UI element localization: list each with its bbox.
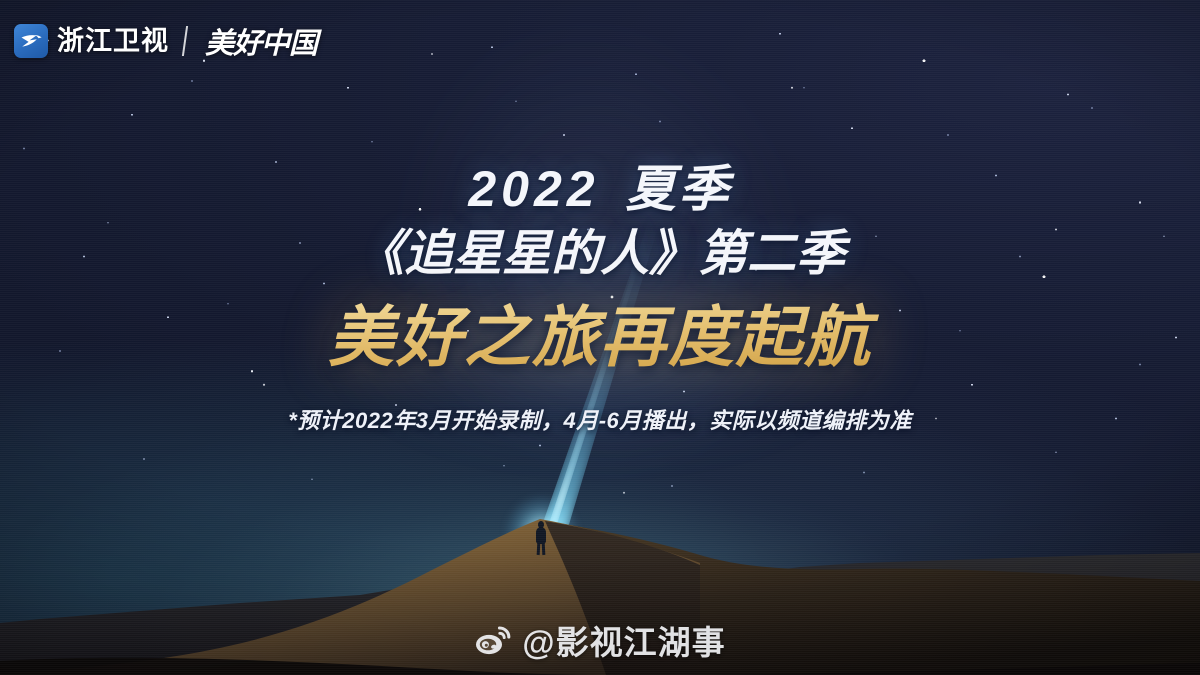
person-leg-right <box>542 542 546 555</box>
brand-divider <box>182 26 188 56</box>
tagline: 美好之旅再度起航 <box>0 301 1200 375</box>
brand-slogan: 美好中国 <box>205 20 317 62</box>
zhejiang-tv-swoosh-icon <box>14 24 48 58</box>
headline-season: 夏季 <box>626 161 732 217</box>
person-silhouette <box>533 521 549 555</box>
person-leg-left <box>537 542 541 555</box>
headline-year-season: 2022夏季 <box>0 160 1200 219</box>
schedule-note: *预计2022年3月开始录制，4月-6月播出，实际以频道编排为准 <box>0 403 1200 435</box>
headline-year: 2022 <box>468 161 599 217</box>
weibo-icon <box>474 624 512 661</box>
watermark: @影视江湖事 <box>0 624 1200 661</box>
headline-block: 2022夏季 《追星星的人》第二季 美好之旅再度起航 *预计2022年3月开始录… <box>0 160 1200 435</box>
brand-bar: 浙江卫视 美好中国 <box>14 20 317 62</box>
poster-canvas: 浙江卫视 美好中国 2022夏季 《追星星的人》第二季 美好之旅再度起航 *预计… <box>0 0 1200 675</box>
watermark-handle: @影视江湖事 <box>522 626 725 659</box>
channel-name: 浙江卫视 <box>57 28 169 55</box>
show-title: 《追星星的人》第二季 <box>0 223 1200 287</box>
